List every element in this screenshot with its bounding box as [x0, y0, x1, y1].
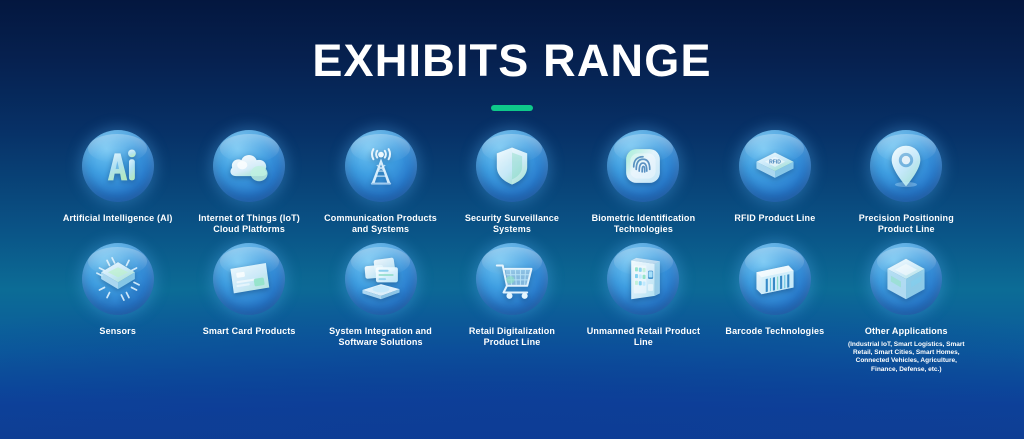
category-item-system-integration[interactable]: System Integration and Software Solution… — [315, 243, 446, 374]
category-item-internet-of-things[interactable]: Internet of Things (IoT) Cloud Platforms — [183, 130, 314, 235]
category-item-artificial-intelligence[interactable]: Artificial Intelligence (AI) — [52, 130, 183, 235]
category-item-biometric-identification[interactable]: Biometric Identification Technologies — [578, 130, 709, 235]
category-label: Retail Digitalization Product Line — [453, 326, 571, 348]
rfid-tag-icon: RFID — [739, 130, 811, 202]
category-grid: Artificial Intelligence (AI) Internet of — [52, 130, 972, 374]
category-label: Smart Card Products — [203, 326, 296, 337]
ai-letters-icon — [82, 130, 154, 202]
category-label: Security Surveillance Systems — [453, 213, 571, 235]
category-item-rfid[interactable]: RFID RFID Product Line — [709, 130, 840, 235]
category-item-barcode[interactable]: Barcode Technologies — [709, 243, 840, 374]
category-label: Unmanned Retail Product Line — [584, 326, 702, 348]
category-label: Precision Positioning Product Line — [847, 213, 965, 235]
category-item-security-surveillance[interactable]: Security Surveillance Systems — [446, 130, 577, 235]
category-item-sensors[interactable]: Sensors — [52, 243, 183, 374]
category-label: Internet of Things (IoT) Cloud Platforms — [190, 213, 308, 235]
signal-tower-icon — [345, 130, 417, 202]
poster-header: EXHIBITS RANGE — [0, 0, 1024, 111]
page-title: EXHIBITS RANGE — [0, 38, 1024, 83]
category-label: System Integration and Software Solution… — [322, 326, 440, 348]
shopping-cart-icon — [476, 243, 548, 315]
map-pin-icon — [870, 130, 942, 202]
category-item-unmanned-retail[interactable]: Unmanned Retail Product Line — [578, 243, 709, 374]
fingerprint-icon — [607, 130, 679, 202]
monitor-windows-icon — [345, 243, 417, 315]
category-item-smart-card[interactable]: Smart Card Products — [183, 243, 314, 374]
shield-icon — [476, 130, 548, 202]
cloud-icon — [213, 130, 285, 202]
category-label: Barcode Technologies — [725, 326, 824, 337]
category-item-retail-digitalization[interactable]: Retail Digitalization Product Line — [446, 243, 577, 374]
barcode-icon — [739, 243, 811, 315]
category-label: RFID Product Line — [734, 213, 815, 224]
category-label: Biometric Identification Technologies — [584, 213, 702, 235]
category-item-communication[interactable]: Communication Products and Systems — [315, 130, 446, 235]
smart-card-icon — [213, 243, 285, 315]
microchip-icon — [82, 243, 154, 315]
category-sublabel: (Industrial IoT, Smart Logistics, Smart … — [846, 341, 966, 374]
cube-icon — [870, 243, 942, 315]
vending-machine-icon — [607, 243, 679, 315]
category-label: Artificial Intelligence (AI) — [63, 213, 173, 224]
category-label: Other Applications — [865, 326, 948, 337]
category-label: Communication Products and Systems — [322, 213, 440, 235]
svg-text:RFID: RFID — [769, 159, 781, 165]
category-item-precision-positioning[interactable]: Precision Positioning Product Line — [841, 130, 972, 235]
category-item-other-applications[interactable]: Other Applications (Industrial IoT, Smar… — [841, 243, 972, 374]
exhibits-range-poster: EXHIBITS RANGE Art — [0, 0, 1024, 439]
category-label: Sensors — [99, 326, 136, 337]
title-accent-bar — [491, 105, 533, 111]
